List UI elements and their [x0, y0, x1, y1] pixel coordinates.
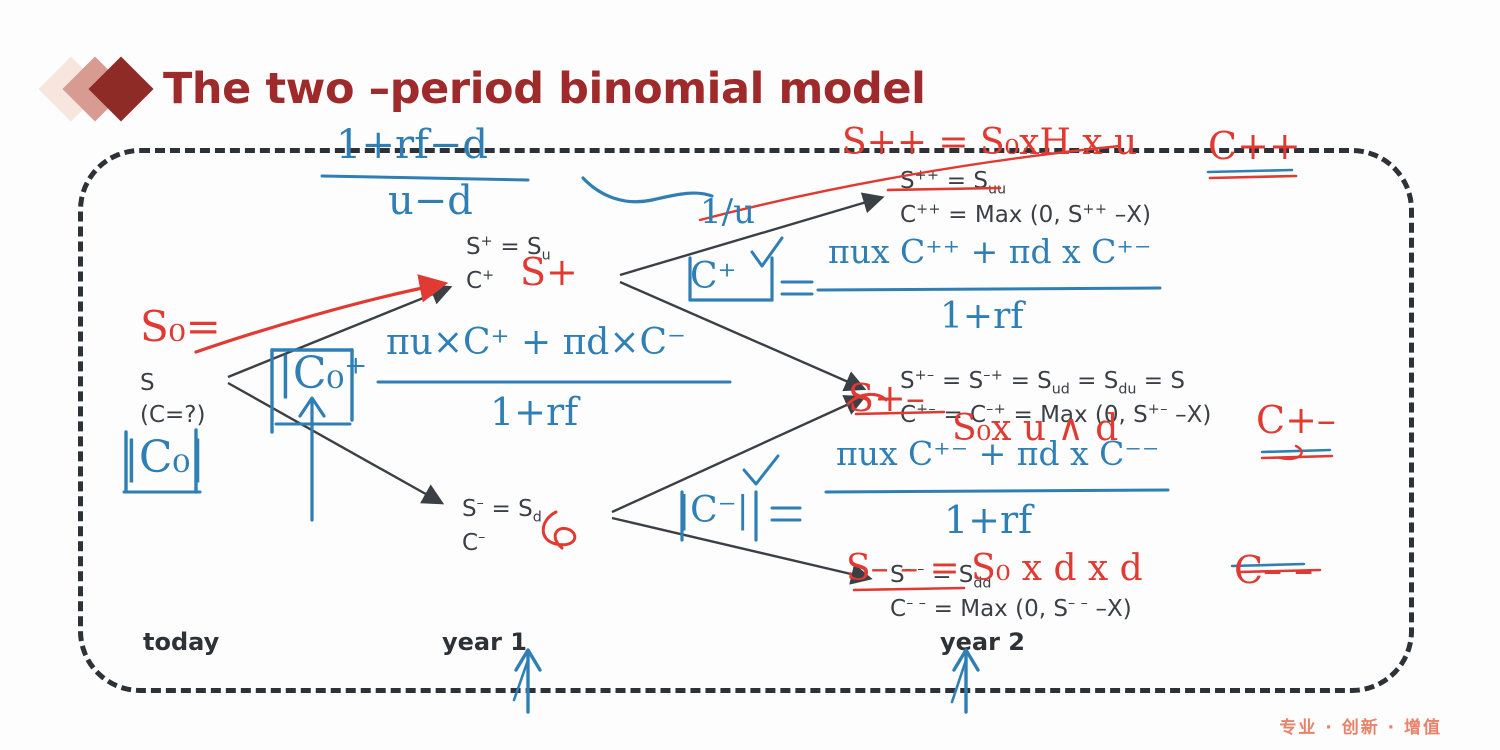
slide-canvas: The two –period binomial model S (C=?) S…: [0, 0, 1500, 750]
red-ink-strokes: [0, 0, 1500, 750]
